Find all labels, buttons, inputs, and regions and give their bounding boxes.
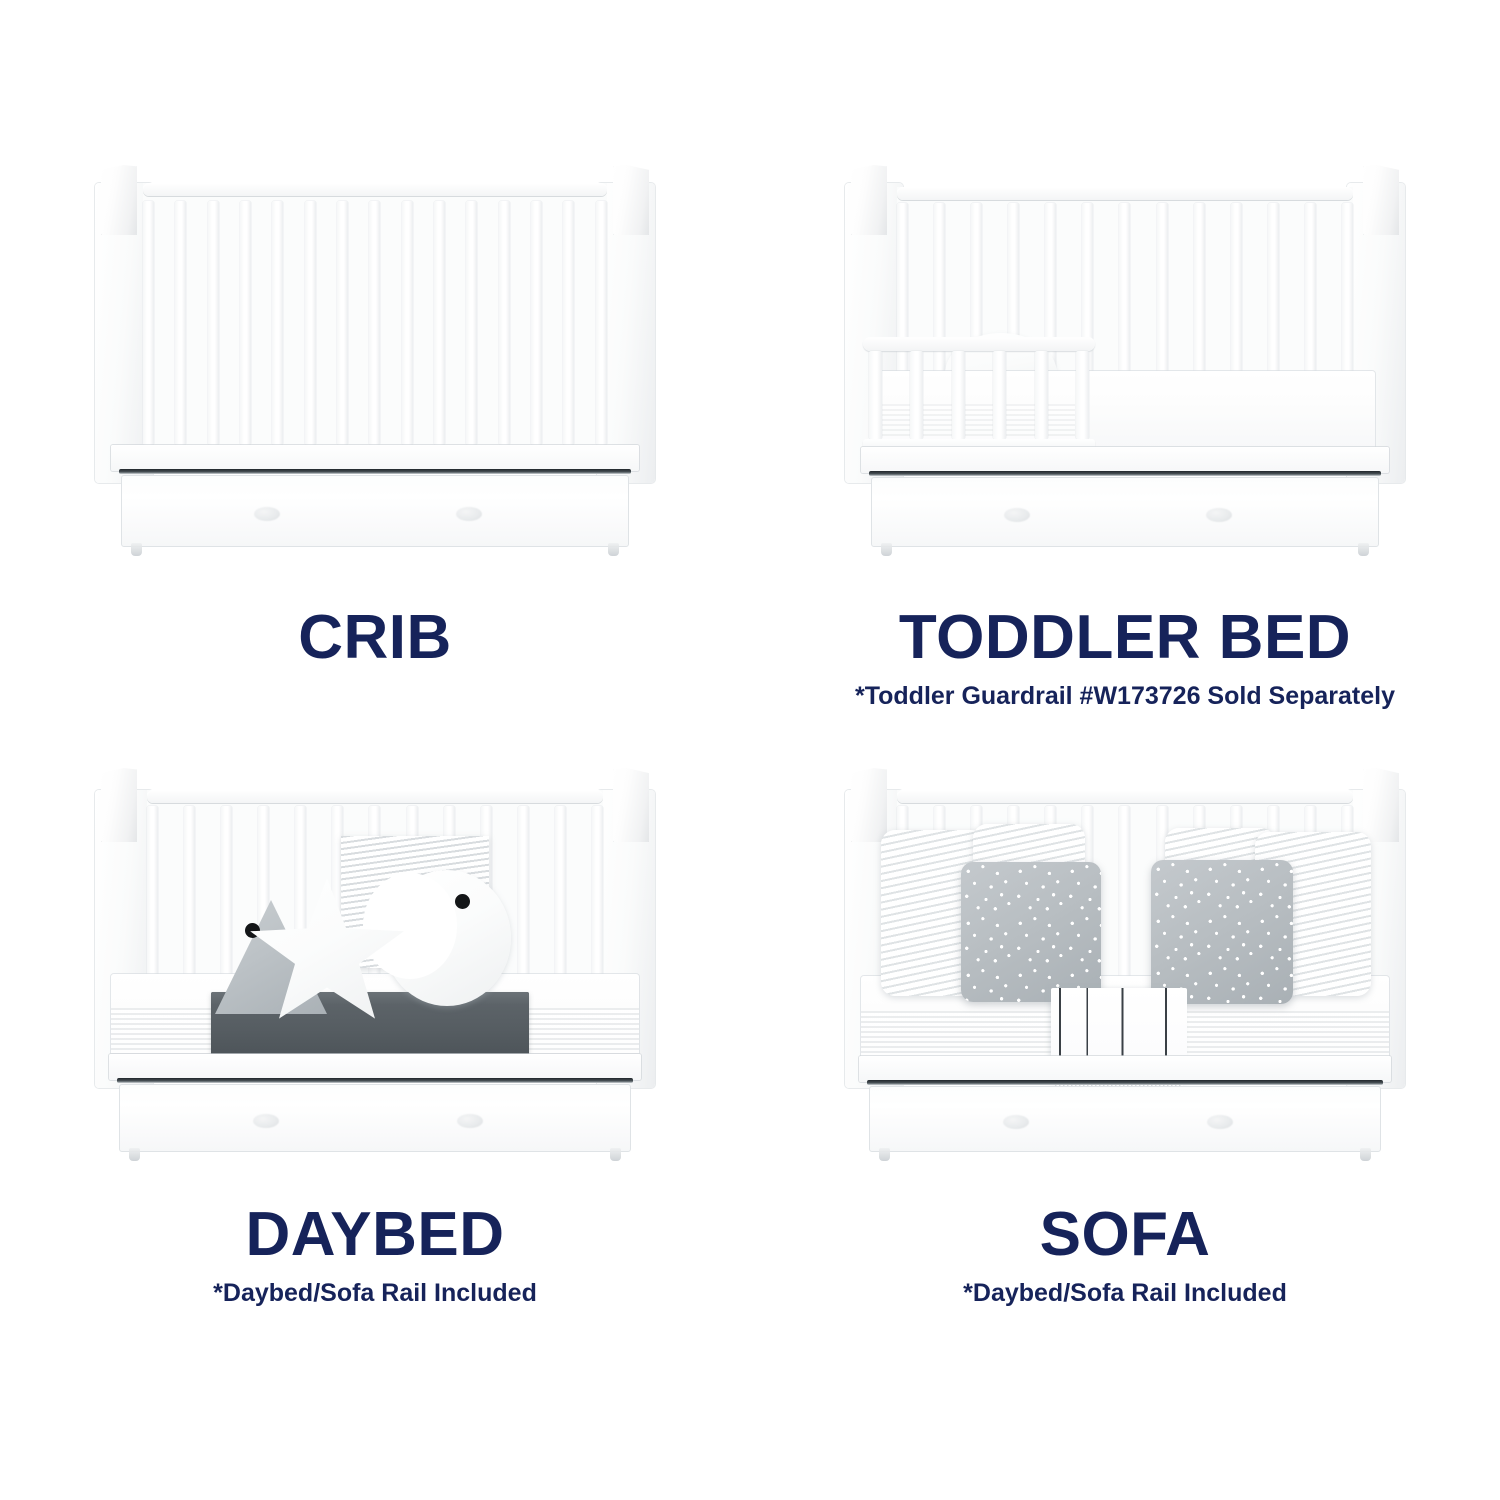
crib-caster-left: [131, 543, 142, 556]
daybed-trundle-gap-shadow: [117, 1078, 633, 1083]
daybed-caster-right: [610, 1148, 621, 1161]
crib-rail-top-bar: [143, 183, 607, 196]
toddler-trundle-knob-right[interactable]: [1206, 508, 1232, 522]
crib-slat: [563, 201, 574, 445]
sofa-corner-post-left: [851, 768, 887, 842]
panel-grid: CRIB: [0, 0, 1500, 1500]
crib-slat: [143, 201, 154, 445]
crib-illustration: [95, 155, 655, 575]
crib-slat: [337, 201, 348, 445]
crib-slat: [272, 201, 283, 445]
crib-bed: [95, 155, 655, 575]
crib-slat: [434, 201, 445, 445]
crib-title: CRIB: [0, 607, 750, 669]
crib-slat: [402, 201, 413, 445]
daybed-moon-pillow-eye: [455, 894, 470, 909]
toddler-guardrail-slat: [869, 351, 882, 439]
crib-slat-group: [143, 201, 607, 445]
crib-label-block: CRIB: [0, 607, 750, 669]
toddler-bed-illustration: [845, 155, 1405, 575]
daybed-moon-pillow: [383, 870, 511, 1006]
crib-slat: [175, 201, 186, 445]
crib-slat: [240, 201, 251, 445]
daybed-trundle-knob-left[interactable]: [253, 1114, 279, 1128]
sofa-trundle-gap-shadow: [867, 1080, 1383, 1085]
sofa-trundle-drawer[interactable]: [869, 1086, 1381, 1152]
daybed-rail-top-bar: [147, 790, 603, 803]
crib-slat: [531, 201, 542, 445]
sofa-caster-right: [1360, 1148, 1371, 1161]
crib-slat: [369, 201, 380, 445]
toddler-caster-right: [1358, 543, 1369, 556]
crib-slat: [466, 201, 477, 445]
toddler-guardrail-slat: [1035, 351, 1048, 439]
toddler-trundle-gap-shadow: [869, 471, 1381, 476]
sofa-dotted-pillow-left: [961, 862, 1101, 1002]
sofa-label-block: SOFA *Daybed/Sofa Rail Included: [750, 1204, 1500, 1308]
sofa-dotted-pillow-right: [1151, 860, 1293, 1004]
crib-slat: [596, 201, 607, 445]
daybed-label-block: DAYBED *Daybed/Sofa Rail Included: [0, 1204, 750, 1308]
toddler-guardrail-slat: [952, 351, 965, 439]
sofa-base-rail: [859, 1056, 1391, 1082]
sofa-caster-left: [879, 1148, 890, 1161]
toddler-trundle-drawer[interactable]: [871, 477, 1379, 547]
toddler-bed-subtitle: *Toddler Guardrail #W173726 Sold Separat…: [750, 681, 1500, 711]
toddler-guardrail: [863, 337, 1095, 453]
panel-sofa: SOFA *Daybed/Sofa Rail Included: [750, 760, 1500, 1500]
panel-toddler-bed: TODDLER BED *Toddler Guardrail #W173726 …: [750, 0, 1500, 760]
sofa-bed: [845, 760, 1405, 1180]
toddler-guardrail-slat: [993, 351, 1006, 439]
toddler-caster-left: [881, 543, 892, 556]
crib-slat: [208, 201, 219, 445]
daybed-title: DAYBED: [0, 1204, 750, 1266]
daybed-base-rail: [109, 1054, 641, 1080]
daybed-trundle-knob-right[interactable]: [457, 1114, 483, 1128]
sofa-corner-post-right: [1363, 768, 1399, 842]
crib-caster-right: [608, 543, 619, 556]
toddler-bed-title: TODDLER BED: [750, 607, 1500, 669]
daybed-illustration: [95, 760, 655, 1180]
sofa-trundle-knob-left[interactable]: [1003, 1115, 1029, 1129]
crib-trundle-drawer[interactable]: [121, 475, 629, 547]
panel-daybed: DAYBED *Daybed/Sofa Rail Included: [0, 760, 750, 1500]
toddler-guardrail-slat-group: [869, 351, 1089, 439]
crib-slat: [305, 201, 316, 445]
toddler-rail-top-bar: [897, 187, 1353, 200]
panel-crib: CRIB: [0, 0, 750, 760]
toddler-corner-post-right: [1363, 165, 1399, 235]
crib-trundle-knob-left[interactable]: [254, 507, 280, 521]
daybed-caster-left: [129, 1148, 140, 1161]
sofa-trundle-knob-right[interactable]: [1207, 1115, 1233, 1129]
crib-trundle-gap-shadow: [119, 469, 631, 474]
toddler-base-rail: [861, 447, 1389, 473]
daybed-trundle-drawer[interactable]: [119, 1084, 631, 1152]
sofa-title: SOFA: [750, 1204, 1500, 1266]
toddler-bed: [845, 155, 1405, 575]
crib-corner-post-right: [613, 165, 649, 235]
toddler-guardrail-slat: [910, 351, 923, 439]
toddler-guardrail-slat: [1076, 351, 1089, 439]
toddler-trundle-knob-left[interactable]: [1004, 508, 1030, 522]
sofa-rail-top-bar: [897, 790, 1353, 803]
toddler-label-block: TODDLER BED *Toddler Guardrail #W173726 …: [750, 607, 1500, 711]
crib-front-rail: [143, 183, 607, 445]
sofa-subtitle: *Daybed/Sofa Rail Included: [750, 1278, 1500, 1308]
toddler-corner-post-left: [851, 165, 887, 235]
toddler-guardrail-top-bar: [863, 337, 1095, 351]
product-configuration-infographic: CRIB: [0, 0, 1500, 1500]
daybed-subtitle: *Daybed/Sofa Rail Included: [0, 1278, 750, 1308]
crib-corner-post-left: [101, 165, 137, 235]
sofa-illustration: [845, 760, 1405, 1180]
daybed-bed: [95, 760, 655, 1180]
crib-trundle-knob-right[interactable]: [456, 507, 482, 521]
daybed-corner-post-right: [613, 768, 649, 842]
crib-slat: [499, 201, 510, 445]
daybed-corner-post-left: [101, 768, 137, 842]
crib-base-rail: [111, 445, 639, 471]
